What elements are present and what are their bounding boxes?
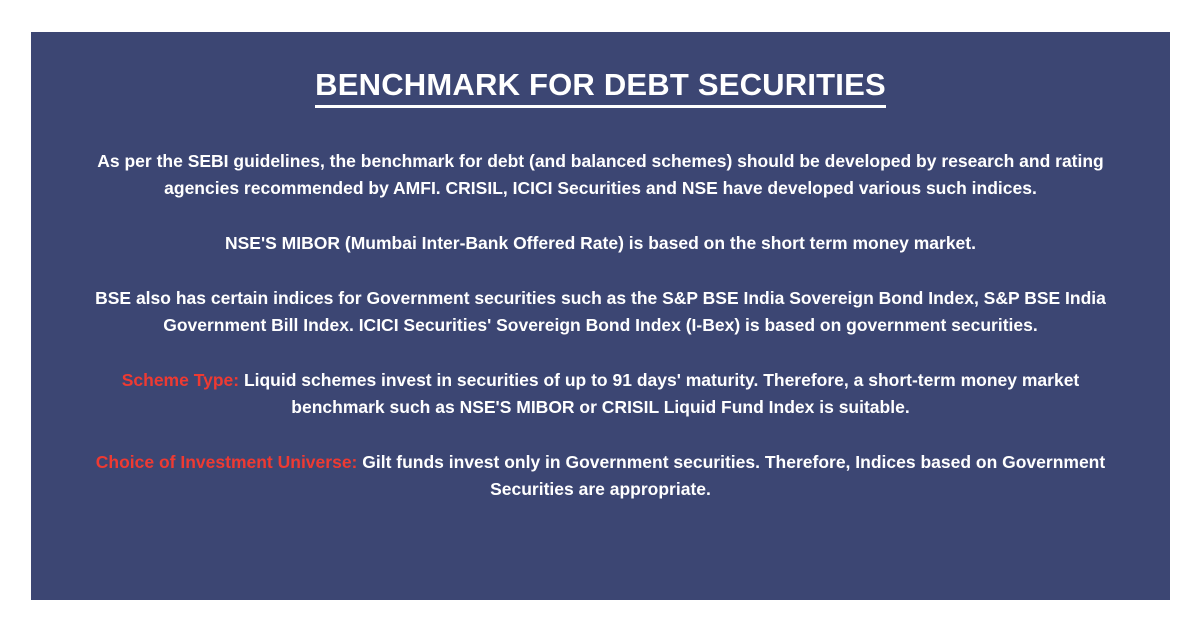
paragraph-nse-mibor-text: NSE'S MIBOR (Mumbai Inter-Bank Offered R… xyxy=(225,233,976,253)
paragraph-choice-of-investment-universe-label: Choice of Investment Universe: xyxy=(96,452,362,472)
paragraph-bse-indices-text: BSE also has certain indices for Governm… xyxy=(95,288,1106,335)
paragraph-sebi-guidelines: As per the SEBI guidelines, the benchmar… xyxy=(83,148,1118,202)
paragraph-choice-of-investment-universe-text: Gilt funds invest only in Government sec… xyxy=(362,452,1105,499)
paragraph-scheme-type-text: Liquid schemes invest in securities of u… xyxy=(244,370,1079,417)
page-title-text: BENCHMARK FOR DEBT SECURITIES xyxy=(315,68,886,108)
paragraph-nse-mibor: NSE'S MIBOR (Mumbai Inter-Bank Offered R… xyxy=(83,230,1118,257)
paragraph-bse-indices: BSE also has certain indices for Governm… xyxy=(83,285,1118,339)
paragraph-choice-of-investment-universe: Choice of Investment Universe: Gilt fund… xyxy=(83,449,1118,503)
slide-canvas: BENCHMARK FOR DEBT SECURITIES As per the… xyxy=(0,0,1200,630)
paragraph-scheme-type: Scheme Type: Liquid schemes invest in se… xyxy=(83,367,1118,421)
paragraph-sebi-guidelines-text: As per the SEBI guidelines, the benchmar… xyxy=(97,151,1104,198)
content-panel: BENCHMARK FOR DEBT SECURITIES As per the… xyxy=(31,32,1170,600)
paragraph-scheme-type-label: Scheme Type: xyxy=(122,370,244,390)
page-title: BENCHMARK FOR DEBT SECURITIES xyxy=(83,68,1118,114)
